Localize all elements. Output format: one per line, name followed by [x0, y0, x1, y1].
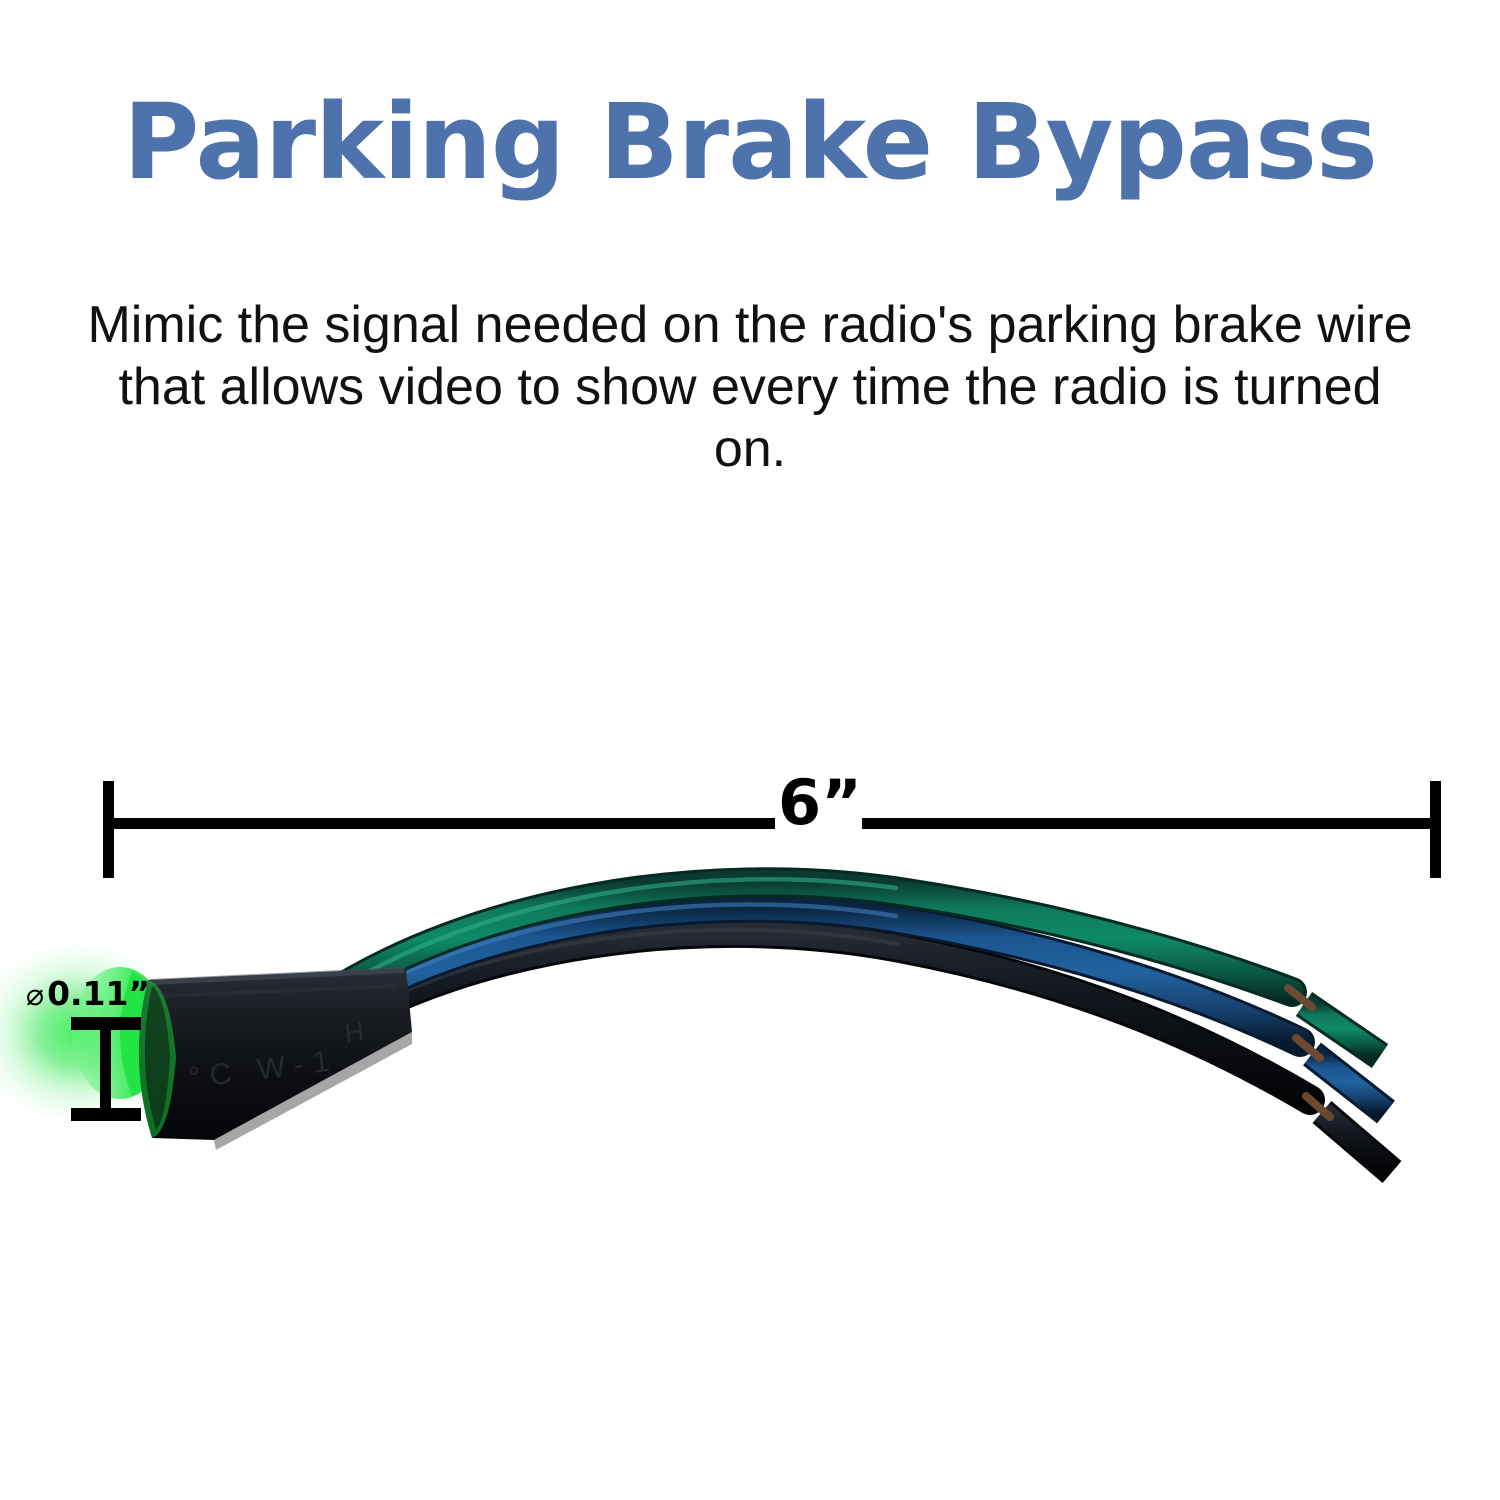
length-dimension: 6” ⌀0.11”	[0, 0, 1500, 1500]
page-title: Parking Brake Bypass	[0, 86, 1500, 198]
heatshrink-sleeve: °C W-1 H	[139, 968, 412, 1150]
product-infographic: Parking Brake Bypass Mimic the signal ne…	[0, 0, 1500, 1500]
wire-bundle	[322, 879, 1392, 1172]
product-photo: °C W-1 H	[0, 820, 1500, 1220]
sleeve-marking-text-2: H	[343, 1016, 365, 1048]
page-subtitle: Mimic the signal needed on the radio's p…	[80, 295, 1420, 481]
